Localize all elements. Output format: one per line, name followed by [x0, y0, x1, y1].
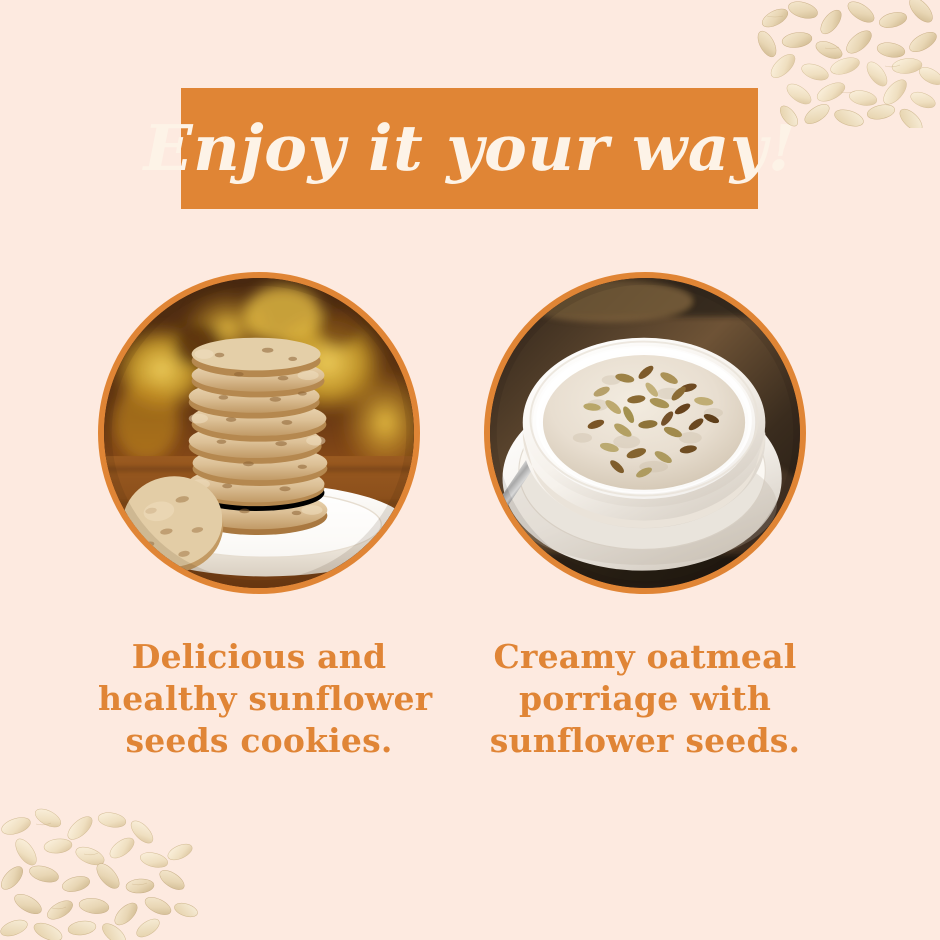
caption-line: healthy sunflower	[98, 678, 420, 720]
card-porridge: Creamy oatmeal porriage with sunflower s…	[484, 272, 806, 763]
caption-line: Delicious and	[98, 636, 420, 678]
photo-cookies	[98, 272, 420, 594]
caption-line: Creamy oatmeal	[484, 636, 806, 678]
headline-banner: Enjoy it your way!	[181, 88, 758, 209]
photo-porridge	[484, 272, 806, 594]
sunflower-seed-pile-bottom-left	[0, 800, 200, 940]
caption-line: seeds cookies.	[98, 720, 420, 762]
sunflower-seed-pile-top-right	[745, 0, 940, 128]
caption-porridge: Creamy oatmeal porriage with sunflower s…	[484, 636, 806, 763]
headline-text: Enjoy it your way!	[143, 117, 796, 180]
caption-line: porriage with	[484, 678, 806, 720]
caption-cookies: Delicious and healthy sunflower seeds co…	[98, 636, 420, 763]
card-cookies: Delicious and healthy sunflower seeds co…	[98, 272, 420, 763]
poster-canvas: Enjoy it your way!	[0, 0, 940, 940]
caption-line: sunflower seeds.	[484, 720, 806, 762]
